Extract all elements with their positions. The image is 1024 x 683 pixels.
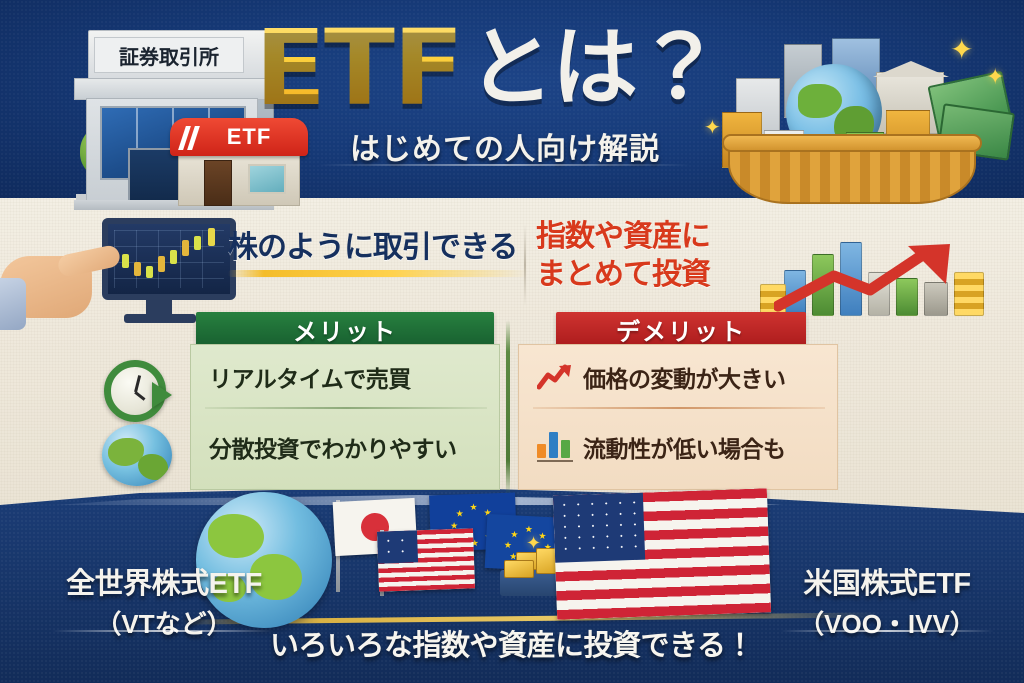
list-item: 流動性が低い場合も bbox=[537, 419, 823, 475]
demerit-item-0-label: 価格の変動が大きい bbox=[583, 360, 786, 394]
title-suffix: とは？ bbox=[468, 25, 720, 111]
candlestick bbox=[170, 250, 177, 264]
shop-window bbox=[248, 164, 286, 194]
merit-heading: メリット bbox=[196, 312, 494, 346]
awning-stripes-icon bbox=[182, 126, 204, 150]
title-etf: ETF bbox=[255, 16, 462, 120]
candlestick bbox=[194, 236, 201, 250]
caption-left-text: 株のように取引できる bbox=[228, 222, 528, 266]
clock-arrow-icon bbox=[152, 382, 172, 408]
caption-trade-like-stocks: 株のように取引できる bbox=[228, 222, 528, 277]
global-etf-label-rule bbox=[52, 630, 274, 632]
page-title: ETF とは？ bbox=[255, 12, 735, 124]
demerit-heading-text: デメリット bbox=[616, 312, 746, 347]
demerit-item-1-label: 流動性が低い場合も bbox=[583, 430, 786, 464]
shop-door bbox=[204, 160, 232, 206]
gold-bars-icon bbox=[504, 560, 534, 578]
global-etf-label-line1: 全世界株式ETF bbox=[34, 560, 294, 602]
list-item: 価格の変動が大きい bbox=[537, 349, 823, 405]
growth-bar-chart-icon bbox=[760, 222, 1012, 322]
bar-chart-icon bbox=[537, 432, 573, 462]
asset-basket-icon: ✦ ✦ ✦ bbox=[700, 22, 1010, 206]
sparkle-icon: ✦ bbox=[986, 66, 1004, 88]
merit-item-1-label: 分散投資でわかりやすい bbox=[209, 430, 457, 464]
volatility-zigzag-icon bbox=[537, 364, 573, 390]
rising-arrow-icon bbox=[774, 242, 988, 312]
caption-left-underline bbox=[228, 270, 528, 277]
row-divider bbox=[533, 407, 825, 409]
etf-shop-icon: ETF bbox=[178, 118, 300, 206]
monitor-base bbox=[124, 314, 196, 323]
candlestick bbox=[134, 262, 141, 276]
demerit-heading: デメリット bbox=[556, 312, 806, 346]
list-item: 分散投資でわかりやすい bbox=[209, 419, 485, 475]
us-etf-label-line1: 米国株式ETF bbox=[762, 560, 1012, 602]
sparkle-icon: ✦ bbox=[704, 118, 721, 138]
us-etf-label: 米国株式ETF （VOO・IVV） bbox=[762, 560, 1012, 641]
caption-divider bbox=[524, 224, 526, 306]
bottom-caption: いろいろな指数や資産に投資できる！ bbox=[252, 622, 772, 664]
exchange-sign: 証券取引所 bbox=[94, 37, 244, 73]
monitor-screen bbox=[102, 218, 236, 300]
merit-item-0-label: リアルタイムで売買 bbox=[209, 360, 411, 394]
panel-divider bbox=[506, 320, 510, 496]
exchange-sign-text: 証券取引所 bbox=[119, 41, 219, 70]
building-cornice bbox=[74, 78, 270, 100]
merit-panel: リアルタイムで売買 分散投資でわかりやすい bbox=[190, 344, 500, 490]
us-etf-label-rule bbox=[780, 630, 994, 632]
us-etf-label-line2: （VOO・IVV） bbox=[762, 604, 1012, 641]
candlestick bbox=[208, 228, 215, 246]
stock-chart-monitor-icon bbox=[88, 218, 236, 326]
sparkle-icon: ✦ bbox=[950, 36, 973, 64]
subtitle-rule bbox=[318, 164, 690, 166]
merit-heading-text: メリット bbox=[293, 312, 397, 347]
row-divider bbox=[205, 407, 487, 409]
candlestick bbox=[146, 266, 153, 278]
basket-rim bbox=[722, 134, 982, 152]
candlestick bbox=[158, 256, 165, 272]
caption-right-line2: まとめて投資 bbox=[536, 256, 796, 294]
demerit-panel: 価格の変動が大きい 流動性が低い場合も bbox=[518, 344, 838, 490]
caption-invest-in-index: 指数や資産に まとめて投資 bbox=[536, 218, 796, 294]
sparkle-icon: ✦ bbox=[526, 534, 541, 552]
page-subtitle: はじめての人向け解説 bbox=[320, 124, 690, 168]
etf-infographic: 証券取引所 ETF ETF とは？ はじめての人向け解説 bbox=[0, 0, 1024, 683]
list-item: リアルタイムで売買 bbox=[209, 349, 485, 405]
pointing-hand-icon bbox=[0, 234, 104, 326]
candlestick bbox=[182, 240, 189, 256]
usa-flag-icon bbox=[553, 488, 771, 619]
globe-icon bbox=[102, 424, 172, 486]
caption-right-line1: 指数や資産に bbox=[536, 218, 796, 256]
candlestick bbox=[122, 254, 129, 268]
usa-flag-icon bbox=[377, 528, 475, 591]
